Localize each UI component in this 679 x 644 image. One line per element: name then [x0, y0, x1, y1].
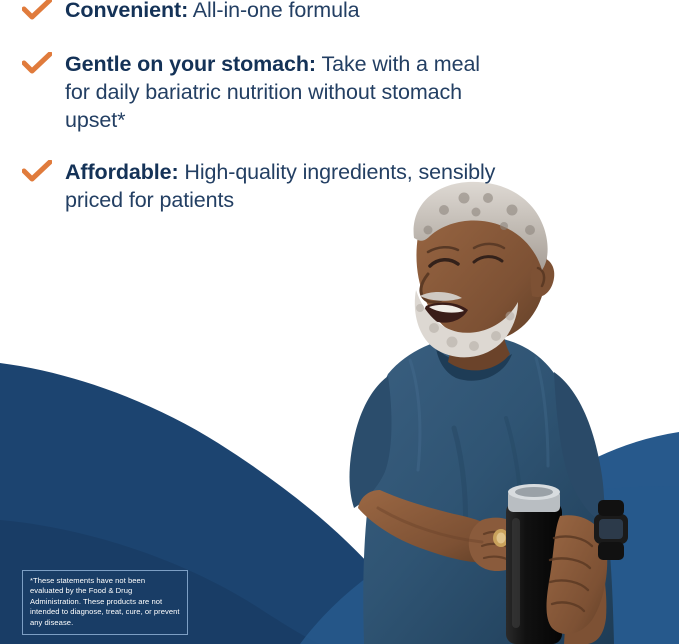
fda-disclaimer-box: *These statements have not been evaluate… — [22, 570, 188, 635]
check-icon — [22, 0, 52, 22]
list-item-label: Affordable: — [65, 160, 179, 184]
list-item: Convenient: All-in-one formula — [0, 0, 500, 24]
promo-banner: Convenient: All-in-one formula Gentle on… — [0, 0, 679, 644]
list-item-label: Gentle on your stomach: — [65, 52, 316, 76]
list-item-text: Convenient: All-in-one formula — [65, 0, 500, 24]
subject-photo — [268, 178, 679, 644]
list-item-label: Convenient: — [65, 0, 188, 22]
benefit-list: Convenient: All-in-one formula Gentle on… — [0, 0, 500, 214]
list-item-text: Affordable: High-quality ingredients, se… — [65, 158, 500, 214]
check-icon — [22, 160, 52, 184]
list-item: Gentle on your stomach: Take with a meal… — [0, 50, 500, 134]
list-item-body: All-in-one formula — [188, 0, 359, 22]
fda-disclaimer-text: *These statements have not been evaluate… — [30, 576, 180, 628]
list-item: Affordable: High-quality ingredients, se… — [0, 158, 500, 214]
list-item-text: Gentle on your stomach: Take with a meal… — [65, 50, 500, 134]
smartwatch — [594, 500, 628, 560]
check-icon — [22, 52, 52, 76]
